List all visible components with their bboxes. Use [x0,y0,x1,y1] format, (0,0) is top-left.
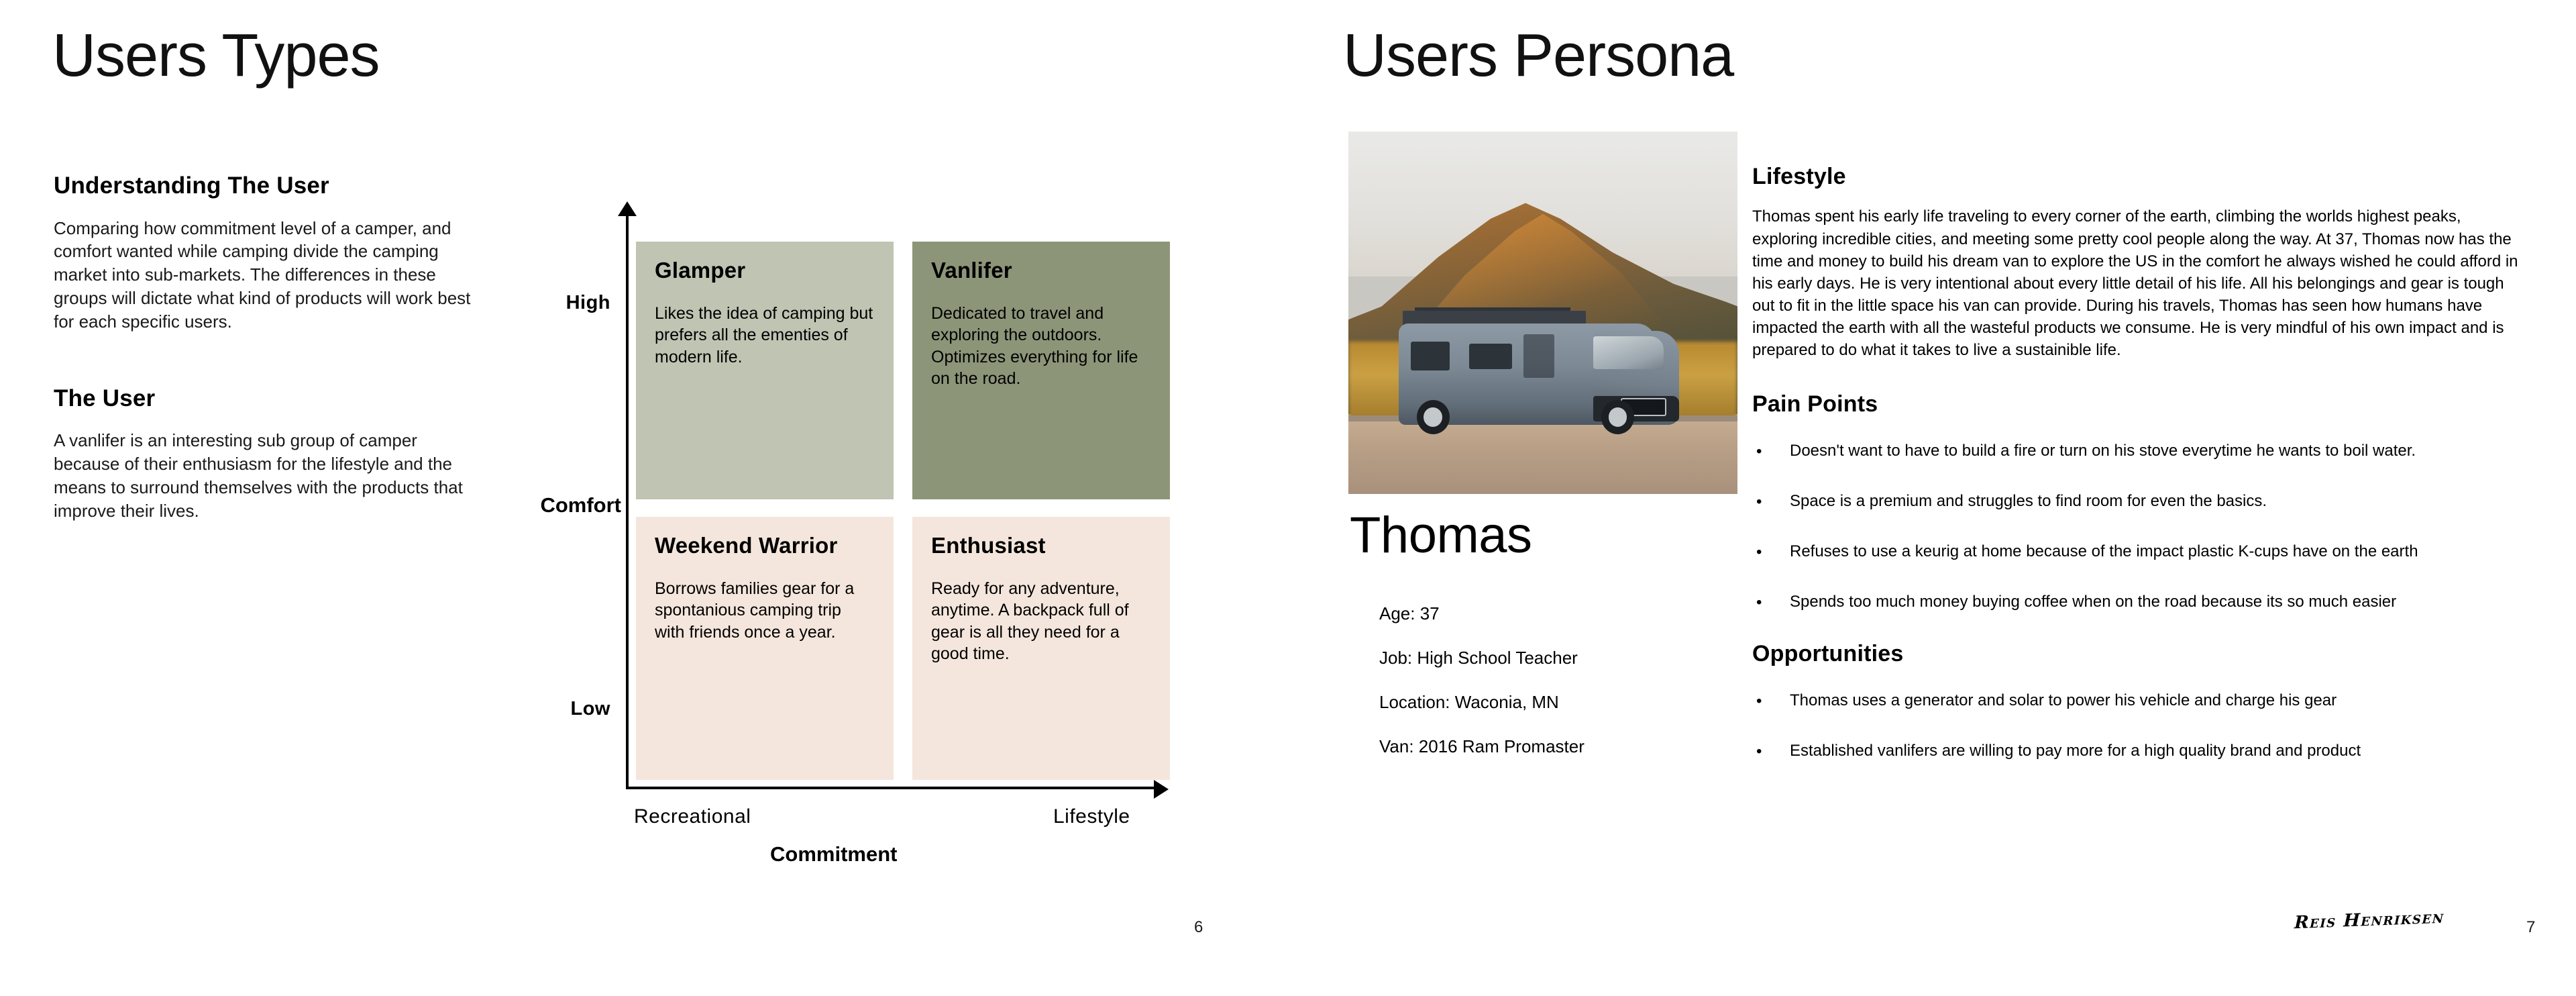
section-heading-pain-points: Pain Points [1752,392,2530,417]
list-item-label: Spends too much money buying coffee when… [1790,593,2396,611]
list-item-label: Refuses to use a keurig at home because … [1790,542,2418,560]
bullet-icon: • [1756,592,1762,613]
photo-van-sliding-door [1523,334,1554,378]
persona-detail-age: Age: 37 [1379,605,1755,622]
quadrant-title-enthusiast: Enthusiast [931,534,1151,558]
section-heading-opportunities: Opportunities [1752,642,2530,666]
quadrant-body-weekend-warrior: Borrows families gear for a spontanious … [655,578,875,644]
photo-van-front-wheel [1601,400,1634,434]
page-number-right: 7 [2526,918,2535,937]
x-axis-arrow-icon [1154,780,1169,799]
persona-detail-job: Job: High School Teacher [1379,649,1755,666]
persona-detail-van: Van: 2016 Ram Promaster [1379,738,1755,755]
quadrant-glamper: Glamper Likes the idea of camping but pr… [636,242,894,499]
list-item: • Spends too much money buying coffee wh… [1752,591,2530,612]
photo-van-side-window-rear [1411,342,1450,370]
section-pain-points: Pain Points • Doesn't want to have to bu… [1752,392,2530,612]
section-heading-understanding: Understanding The User [54,173,476,199]
x-tick-recreational: Recreational [634,805,751,828]
section-opportunities: Opportunities • Thomas uses a generator … [1752,642,2530,761]
y-axis-arrow-icon [618,201,637,216]
page-number-left: 6 [1194,918,1203,937]
left-text-column: Understanding The User Comparing how com… [54,173,476,522]
section-body-lifestyle: Thomas spent his early life traveling to… [1752,205,2530,361]
photo-van-rear-wheel [1417,400,1450,434]
quadrant-body-enthusiast: Ready for any adventure, anytime. A back… [931,578,1151,665]
page-title-users-types: Users Types [52,26,380,86]
photo-gravel-ground [1348,421,1737,494]
user-types-matrix-chart: High Low Comfort Recreational Lifestyle … [496,201,1214,879]
list-item-label: Established vanlifers are willing to pay… [1790,742,2361,760]
list-item: • Space is a premium and struggles to fi… [1752,491,2530,511]
list-item-label: Space is a premium and struggles to find… [1790,492,2267,510]
bullet-icon: • [1756,491,1762,512]
quadrant-body-glamper: Likes the idea of camping but prefers al… [655,303,875,368]
list-item: • Thomas uses a generator and solar to p… [1752,690,2530,711]
section-heading-the-user: The User [54,386,476,412]
persona-content-column: Lifestyle Thomas spent his early life tr… [1752,164,2530,791]
section-body-the-user: A vanlifer is an interesting sub group o… [54,429,476,522]
list-item-label: Thomas uses a generator and solar to pow… [1790,691,2337,709]
x-axis-line [626,787,1159,789]
section-understanding-the-user: Understanding The User Comparing how com… [54,173,476,334]
van-photo [1348,132,1737,494]
quadrant-body-vanlifer: Dedicated to travel and exploring the ou… [931,303,1151,390]
list-item: • Established vanlifers are willing to p… [1752,740,2530,761]
quadrant-enthusiast: Enthusiast Ready for any adventure, anyt… [912,517,1170,780]
quadrant-vanlifer: Vanlifer Dedicated to travel and explori… [912,242,1170,499]
page-title-users-persona: Users Persona [1343,26,1733,86]
y-axis-label: Comfort [540,493,621,517]
list-item-label: Doesn't want to have to build a fire or … [1790,442,2416,460]
persona-name: Thomas [1350,510,1532,561]
quadrant-title-glamper: Glamper [655,259,875,283]
quadrant-title-weekend-warrior: Weekend Warrior [655,534,875,558]
section-the-user: The User A vanlifer is an interesting su… [54,386,476,523]
persona-detail-location: Location: Waconia, MN [1379,693,1755,711]
section-heading-lifestyle: Lifestyle [1752,164,2530,189]
section-body-understanding: Comparing how commitment level of a camp… [54,217,476,334]
section-lifestyle: Lifestyle Thomas spent his early life tr… [1752,164,2530,361]
bullet-icon: • [1756,741,1762,762]
persona-details-list: Age: 37 Job: High School Teacher Locatio… [1352,605,1755,782]
list-item: • Refuses to use a keurig at home becaus… [1752,541,2530,562]
y-axis-line [626,212,629,789]
opportunities-list: • Thomas uses a generator and solar to p… [1752,690,2530,761]
y-tick-high: High [566,292,610,314]
list-item: • Doesn't want to have to build a fire o… [1752,440,2530,461]
y-tick-low: Low [571,698,611,720]
bullet-icon: • [1756,441,1762,462]
pain-points-list: • Doesn't want to have to build a fire o… [1752,440,2530,613]
left-page: Users Types Understanding The User Compa… [0,0,1288,996]
photo-van-windshield [1593,336,1663,369]
x-tick-lifestyle: Lifestyle [1053,805,1130,828]
bullet-icon: • [1756,542,1762,562]
quadrant-title-vanlifer: Vanlifer [931,259,1151,283]
x-axis-label: Commitment [770,842,897,866]
bullet-icon: • [1756,691,1762,711]
quadrant-weekend-warrior: Weekend Warrior Borrows families gear fo… [636,517,894,780]
photo-van-side-window-front [1469,344,1512,369]
